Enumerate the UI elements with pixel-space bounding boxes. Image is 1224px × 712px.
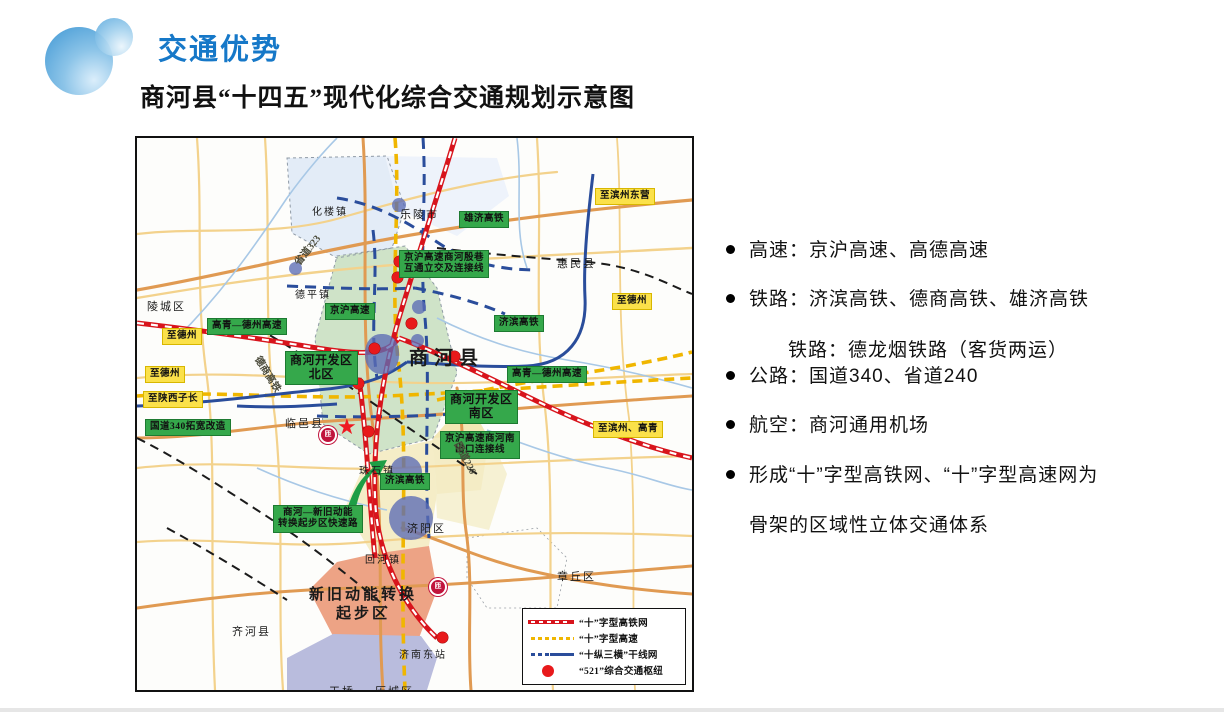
map-project-tag: 商河—新旧动能转换起步区快速路 bbox=[273, 505, 363, 533]
interchange-icon: 匝 bbox=[429, 578, 447, 596]
bullet-dot-icon bbox=[726, 371, 735, 380]
transport-hub-dot bbox=[406, 318, 417, 329]
transport-hub-dot bbox=[369, 343, 380, 354]
key-point-block: 高速：京沪高速、高德高速 bbox=[726, 236, 1206, 265]
legend-item: “521”综合交通枢纽 bbox=[528, 662, 680, 678]
expressway-yellow-line-icon bbox=[528, 631, 574, 645]
map-node bbox=[389, 496, 433, 540]
key-point-block: 公路：国道340、省道240 bbox=[726, 362, 1206, 391]
bullet-dot-icon bbox=[726, 420, 735, 429]
footer-divider bbox=[0, 708, 1224, 712]
transport-plan-map[interactable]: ★ ★ 匝 匝 化楼镇乐陵市德平镇陵城区惠民县临邑县商河县珠石镇济阳区回河镇齐河… bbox=[135, 136, 694, 692]
legend-label: “十”字型高铁网 bbox=[579, 615, 648, 629]
map-node bbox=[412, 300, 426, 314]
key-project-star: ★ bbox=[337, 416, 357, 438]
list-item-label: 高速：京沪高速、高德高速 bbox=[749, 236, 989, 265]
list-item: 公路：国道340、省道240 bbox=[726, 362, 1206, 391]
list-item: 铁路：济滨高铁、德商高铁、雄济高铁 bbox=[726, 285, 1206, 314]
list-item: 航空：商河通用机场 bbox=[726, 411, 1206, 440]
map-project-tag: 高青—德州高速 bbox=[207, 318, 287, 335]
bullet-dot-icon bbox=[726, 470, 735, 479]
key-points-list: 高速：京沪高速、高德高速铁路：济滨高铁、德商高铁、雄济高铁铁路：德龙烟铁路（客货… bbox=[726, 236, 1206, 537]
map-legend: “十”字型高铁网 “十”字型高速 “十纵三横”干线网 “521”综合交通枢纽 bbox=[522, 608, 686, 685]
map-caption-title: 商河县“十四五”现代化综合交通规划示意图 bbox=[140, 78, 635, 114]
key-point-block: 航空：商河通用机场 bbox=[726, 411, 1206, 440]
map-project-tag: 京沪高速 bbox=[325, 303, 375, 320]
logo-circle-small bbox=[95, 18, 133, 56]
page-title: 交通优势 bbox=[158, 36, 282, 65]
two-blue-circles-logo-icon bbox=[45, 18, 149, 94]
map-direction-tag: 至陕西子长 bbox=[143, 391, 203, 408]
list-item-label: 形成“十”字型高铁网、“十”字型高速网为 bbox=[749, 461, 1098, 490]
trunk-blue-line-icon bbox=[528, 647, 574, 661]
transport-hub-dot bbox=[449, 351, 460, 362]
map-zone-tag: 商河开发区南区 bbox=[445, 390, 518, 424]
bullet-dot-icon bbox=[726, 294, 735, 303]
legend-item: “十纵三横”干线网 bbox=[528, 646, 680, 662]
map-direction-tag: 至德州 bbox=[162, 328, 202, 345]
map-direction-tag: 至滨州、高青 bbox=[593, 421, 663, 438]
map-node bbox=[411, 334, 424, 347]
bullet-dot-icon bbox=[726, 245, 735, 254]
list-item: 形成“十”字型高铁网、“十”字型高速网为 bbox=[726, 461, 1206, 490]
map-direction-tag: 至德州 bbox=[612, 293, 652, 310]
slide-header: 交通优势 商河县“十四五”现代化综合交通规划示意图 bbox=[0, 0, 1224, 130]
transport-hub-dot bbox=[437, 632, 448, 643]
list-item: 高速：京沪高速、高德高速 bbox=[726, 236, 1206, 265]
map-node bbox=[392, 198, 406, 212]
legend-item: “十”字型高铁网 bbox=[528, 614, 680, 630]
map-zone-tag: 商河开发区北区 bbox=[285, 351, 358, 385]
hsr-dashed-red-line-icon bbox=[528, 615, 574, 629]
key-point-block: 形成“十”字型高铁网、“十”字型高速网为骨架的区域性立体交通体系 bbox=[726, 461, 1206, 537]
map-project-tag: 济滨高铁 bbox=[494, 315, 544, 332]
map-project-tag: 高青—德州高速 bbox=[507, 366, 587, 383]
legend-label: “521”综合交通枢纽 bbox=[579, 663, 663, 677]
map-direction-tag: 至德州 bbox=[145, 366, 185, 383]
map-node bbox=[365, 334, 399, 374]
legend-label: “十”字型高速 bbox=[579, 631, 638, 645]
map-project-tag: 国道340拓宽改造 bbox=[145, 419, 231, 436]
list-item-label: 铁路：济滨高铁、德商高铁、雄济高铁 bbox=[749, 285, 1089, 314]
map-project-tag: 京沪高速商河殷巷互通立交及连接线 bbox=[399, 250, 489, 278]
list-item-label: 航空：商河通用机场 bbox=[749, 411, 929, 440]
list-item-sublabel: 铁路：德龙烟铁路（客货两运） bbox=[788, 335, 1206, 362]
red-dot-icon bbox=[528, 663, 574, 677]
interchange-icon: 匝 bbox=[319, 426, 337, 444]
legend-item: “十”字型高速 bbox=[528, 630, 680, 646]
map-direction-tag: 至滨州东营 bbox=[595, 188, 655, 205]
list-item-label: 公路：国道340、省道240 bbox=[749, 362, 978, 391]
key-point-block: 铁路：济滨高铁、德商高铁、雄济高铁铁路：德龙烟铁路（客货两运） bbox=[726, 285, 1206, 361]
legend-label: “十纵三横”干线网 bbox=[579, 647, 658, 661]
transport-hub-dot bbox=[363, 426, 374, 437]
list-item-continuation: 骨架的区域性立体交通体系 bbox=[749, 510, 1206, 537]
map-project-tag: 雄济高铁 bbox=[459, 211, 509, 228]
map-project-tag: 济滨高铁 bbox=[380, 473, 430, 490]
